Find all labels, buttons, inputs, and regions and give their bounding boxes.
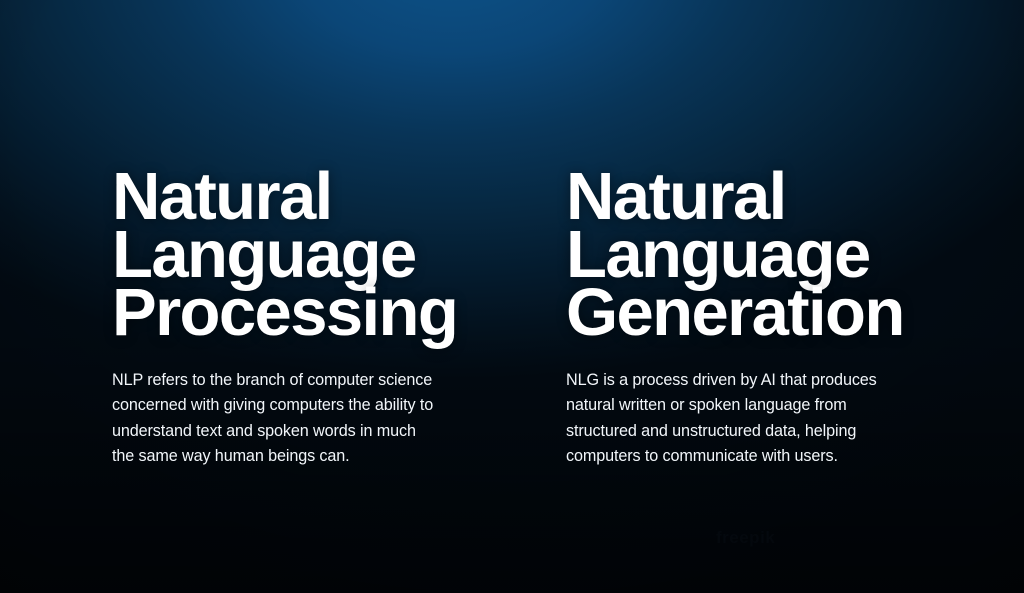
heading-nlp: Natural Language Processing (112, 168, 512, 342)
body-nlg-line-4: computers to communicate with users. (566, 444, 936, 469)
body-nlg-line-1: NLG is a process driven by AI that produ… (566, 368, 936, 393)
heading-nlg-line-3: Generation (566, 284, 936, 342)
heading-nlp-line-3: Processing (112, 284, 512, 342)
body-nlp-line-4: the same way human beings can. (112, 444, 512, 469)
body-nlg-line-3: structured and unstructured data, helpin… (566, 419, 936, 444)
body-nlp: NLP refers to the branch of computer sci… (112, 368, 512, 470)
body-nlp-line-3: understand text and spoken words in much (112, 419, 512, 444)
content-columns: Natural Language Processing NLP refers t… (0, 0, 1024, 593)
heading-nlg: Natural Language Generation (566, 168, 936, 342)
column-nlg: Natural Language Generation NLG is a pro… (566, 168, 936, 470)
column-nlp: Natural Language Processing NLP refers t… (112, 168, 512, 470)
body-nlg: NLG is a process driven by AI that produ… (566, 368, 936, 470)
slide-canvas: freepik Natural Language Processing NLP … (0, 0, 1024, 593)
body-nlp-line-1: NLP refers to the branch of computer sci… (112, 368, 512, 393)
body-nlp-line-2: concerned with giving computers the abil… (112, 393, 512, 418)
body-nlg-line-2: natural written or spoken language from (566, 393, 936, 418)
